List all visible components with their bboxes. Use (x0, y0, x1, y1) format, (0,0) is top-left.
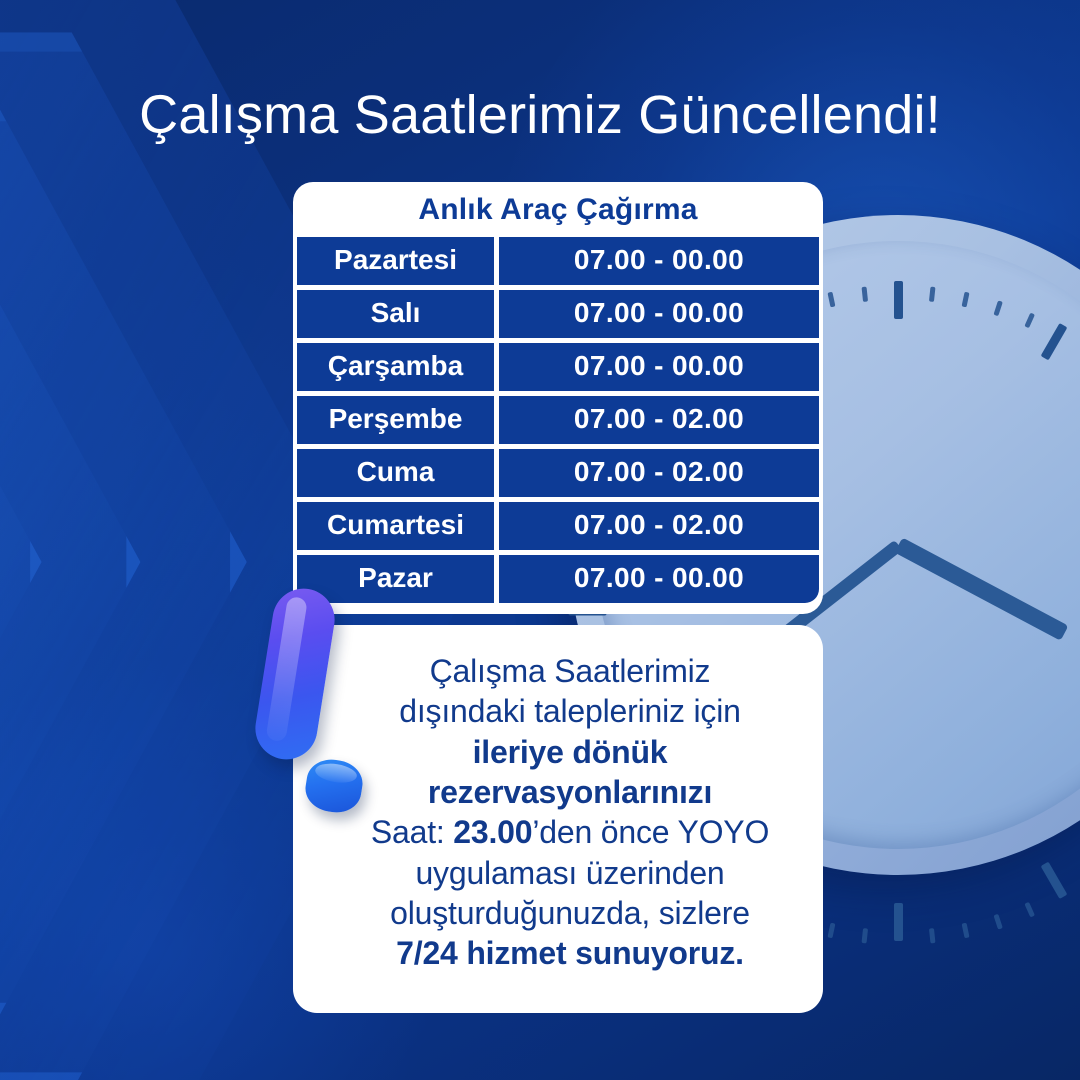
poster-canvas: Çalışma Saatlerimiz Güncellendi! Anlık A… (0, 0, 1080, 1080)
table-row: Cuma 07.00 - 02.00 (293, 449, 823, 502)
info-line-3: ileriye dönük (351, 732, 789, 772)
exclamation-dot (302, 756, 365, 816)
info-line-5: Saat: 23.00’den önce YOYO (351, 812, 789, 852)
info-card: Çalışma Saatlerimiz dışındaki taleplerin… (293, 625, 823, 1013)
info-text: Çalışma Saatlerimiz dışındaki taleplerin… (351, 651, 789, 974)
exclamation-mark-icon (258, 588, 368, 813)
schedule-rows: Pazartesi 07.00 - 00.00 Salı 07.00 - 00.… (293, 237, 823, 608)
info-line-4: rezervasyonlarınızı (351, 772, 789, 812)
schedule-day: Salı (297, 290, 494, 338)
info-line-4-bold: rezervasyonlarınızı (428, 774, 712, 810)
schedule-heading: Anlık Araç Çağırma (293, 182, 823, 237)
schedule-hours: 07.00 - 00.00 (499, 237, 819, 285)
info-line-1: Çalışma Saatlerimiz (351, 651, 789, 691)
schedule-hours: 07.00 - 02.00 (499, 449, 819, 497)
schedule-hours: 07.00 - 02.00 (499, 502, 819, 550)
schedule-hours: 07.00 - 00.00 (499, 343, 819, 391)
info-line-6: uygulaması üzerinden (351, 853, 789, 893)
info-line-8-bold: 7/24 hizmet sunuyoruz. (396, 935, 744, 971)
table-row: Salı 07.00 - 00.00 (293, 290, 823, 343)
info-line-8: 7/24 hizmet sunuyoruz. (351, 933, 789, 973)
table-row: Pazartesi 07.00 - 00.00 (293, 237, 823, 290)
schedule-day: Perşembe (297, 396, 494, 444)
info-line-5-bold: 23.00 (453, 814, 532, 850)
info-line-3-bold: ileriye dönük (473, 734, 668, 770)
schedule-hours: 07.00 - 00.00 (499, 290, 819, 338)
info-line-5-prefix: Saat: (371, 814, 453, 850)
schedule-day: Çarşamba (297, 343, 494, 391)
exclamation-bar (251, 584, 339, 764)
schedule-hours: 07.00 - 02.00 (499, 396, 819, 444)
info-line-5-suffix: ’den önce YOYO (532, 814, 769, 850)
page-title: Çalışma Saatlerimiz Güncellendi! (0, 84, 1080, 146)
table-row: Çarşamba 07.00 - 00.00 (293, 343, 823, 396)
table-row: Perşembe 07.00 - 02.00 (293, 396, 823, 449)
info-line-2: dışındaki talepleriniz için (351, 691, 789, 731)
schedule-table: Anlık Araç Çağırma Pazartesi 07.00 - 00.… (293, 182, 823, 614)
schedule-day: Pazartesi (297, 237, 494, 285)
schedule-hours: 07.00 - 00.00 (499, 555, 819, 603)
table-row: Cumartesi 07.00 - 02.00 (293, 502, 823, 555)
info-line-7: oluşturduğunuzda, sizlere (351, 893, 789, 933)
schedule-day: Cuma (297, 449, 494, 497)
table-row: Pazar 07.00 - 00.00 (293, 555, 823, 608)
schedule-day: Cumartesi (297, 502, 494, 550)
